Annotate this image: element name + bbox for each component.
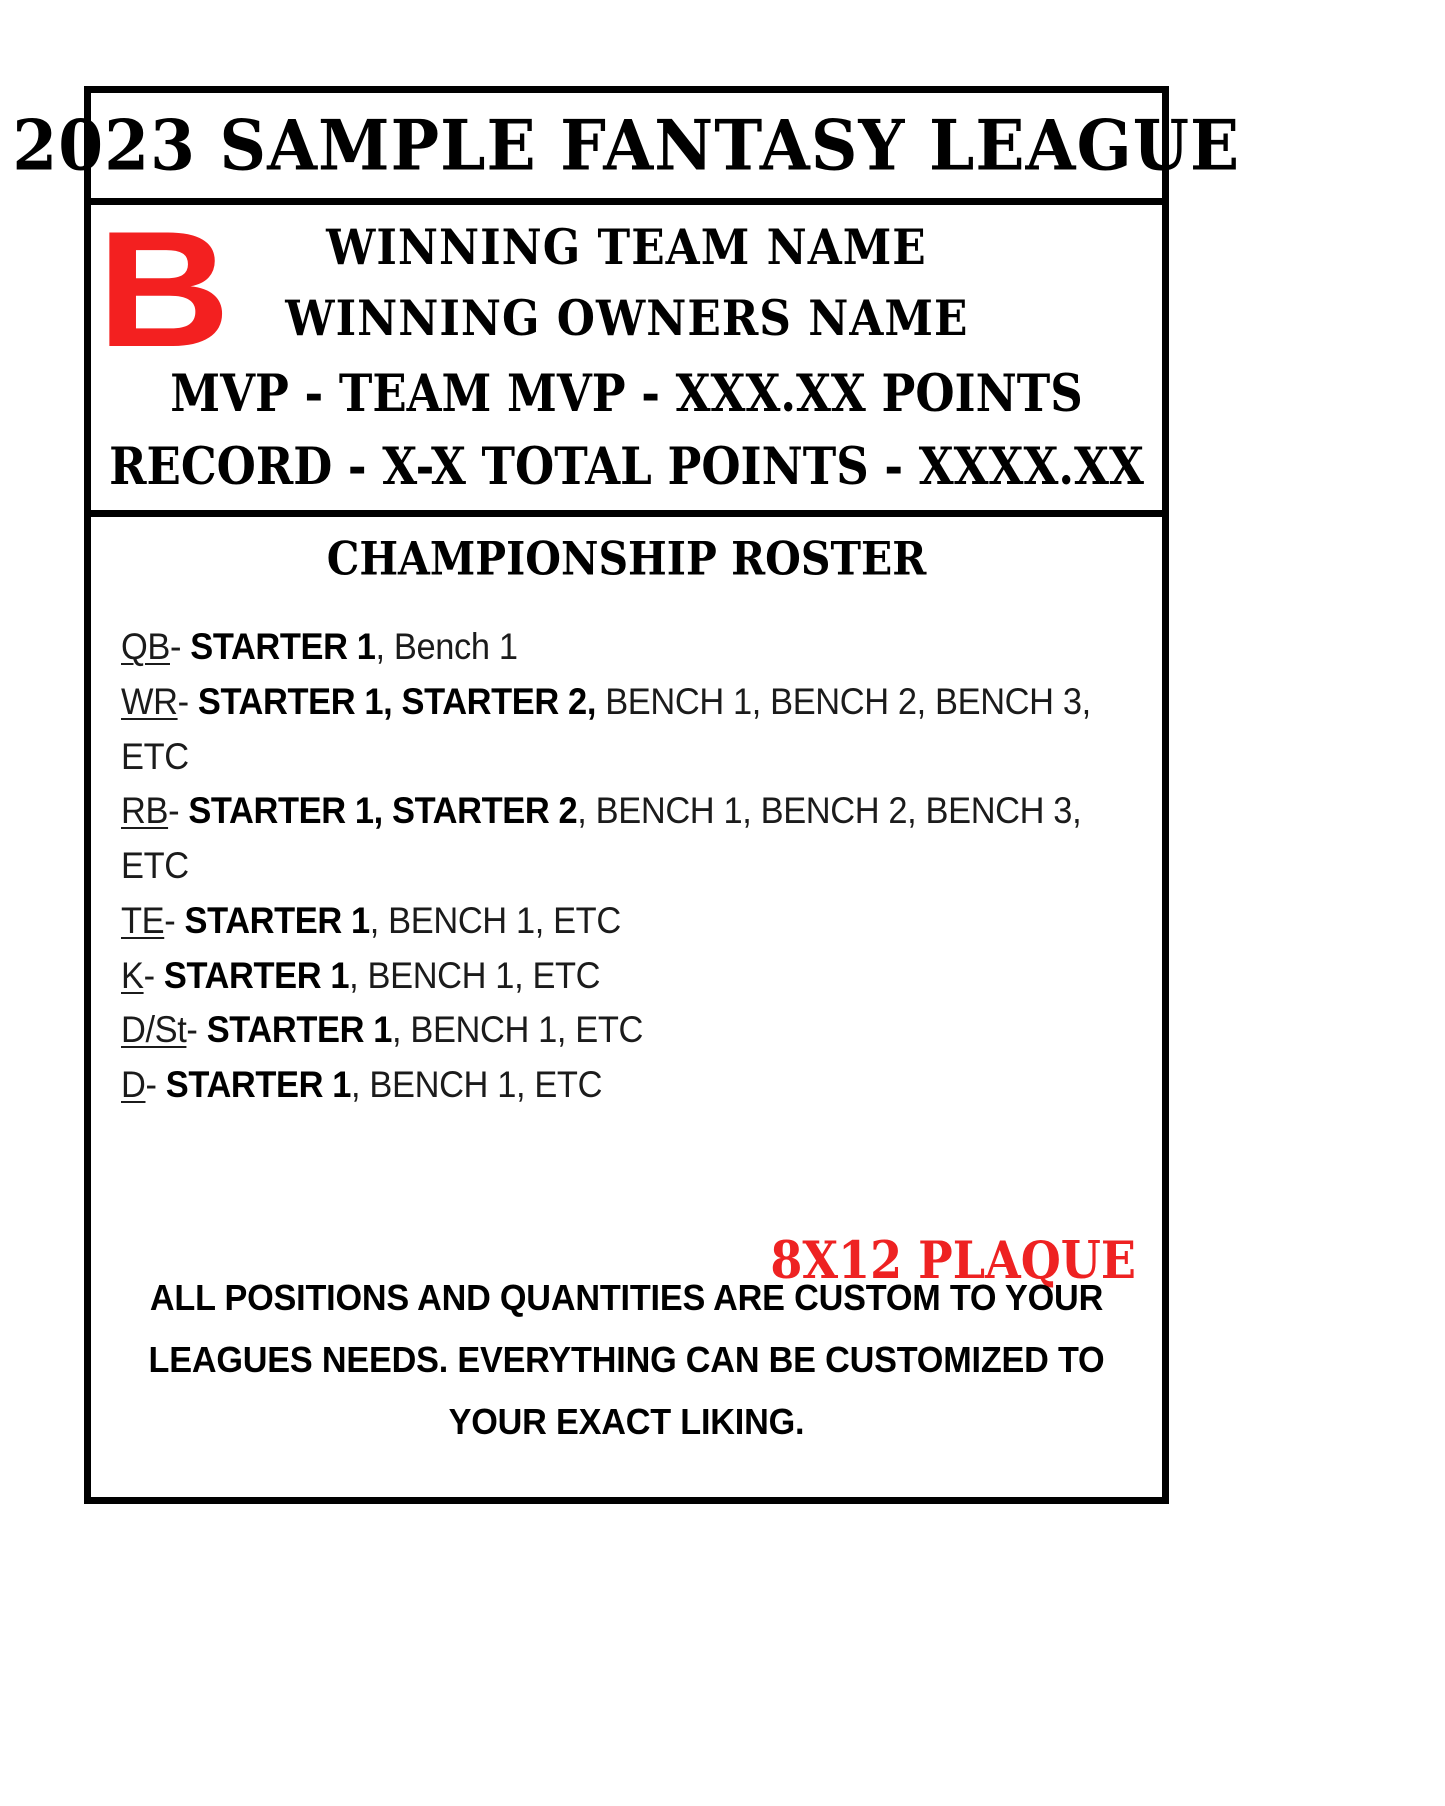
league-title: 2023 SAMPLE FANTASY LEAGUE	[13, 111, 1241, 180]
roster-heading: CHAMPIONSHIP ROSTER	[117, 537, 1136, 583]
roster-position-label: TE	[121, 900, 164, 941]
mvp-line: MVP - TEAM MVP - XXX.XX POINTS	[170, 367, 1082, 418]
roster-position-label: D/St	[121, 1009, 186, 1050]
roster-dash: -	[168, 790, 188, 831]
roster-dash: -	[145, 1064, 165, 1105]
roster-dash: -	[178, 681, 198, 722]
roster-position-label: QB	[121, 626, 170, 667]
winning-owner-name: WINNING OWNERS NAME	[285, 294, 968, 343]
record-line: RECORD - X-X TOTAL POINTS - XXXX.XX	[109, 440, 1144, 491]
roster-dash: -	[186, 1009, 206, 1050]
roster-starters: STARTER 1, STARTER 2,	[198, 681, 596, 722]
roster-line: K- STARTER 1, BENCH 1, ETC	[121, 949, 1136, 1004]
championship-plaque: 2023 SAMPLE FANTASY LEAGUE B WINNING TEA…	[84, 86, 1169, 1504]
championship-roster-band: CHAMPIONSHIP ROSTER QB- STARTER 1, Bench…	[91, 517, 1162, 1497]
roster-starters: STARTER 1	[190, 626, 375, 667]
roster-starters: STARTER 1	[164, 955, 349, 996]
roster-bench: , BENCH 1, ETC	[349, 955, 600, 996]
roster-bench: , BENCH 1, ETC	[351, 1064, 602, 1105]
roster-starters: STARTER 1	[207, 1009, 392, 1050]
roster-starters: STARTER 1	[166, 1064, 351, 1105]
roster-starters: STARTER 1, STARTER 2	[188, 790, 577, 831]
roster-dash: -	[164, 900, 184, 941]
roster-bench: , BENCH 1, ETC	[370, 900, 621, 941]
roster-bench: , BENCH 1, ETC	[392, 1009, 643, 1050]
roster-line: D/St- STARTER 1, BENCH 1, ETC	[121, 1003, 1136, 1058]
roster-line: QB- STARTER 1, Bench 1	[121, 620, 1136, 675]
roster-line: WR- STARTER 1, STARTER 2, BENCH 1, BENCH…	[121, 675, 1136, 785]
roster-line: RB- STARTER 1, STARTER 2, BENCH 1, BENCH…	[121, 784, 1136, 894]
league-title-band: 2023 SAMPLE FANTASY LEAGUE	[91, 93, 1162, 205]
roster-starters: STARTER 1	[185, 900, 370, 941]
roster-position-label: D	[121, 1064, 145, 1105]
winning-team-band: B WINNING TEAM NAME WINNING OWNERS NAME …	[91, 205, 1162, 517]
roster-dash: -	[144, 955, 164, 996]
roster-position-label: WR	[121, 681, 178, 722]
roster-position-label: RB	[121, 790, 168, 831]
roster-dash: -	[170, 626, 190, 667]
team-logo-letter: B	[97, 219, 226, 361]
roster-list: QB- STARTER 1, Bench 1WR- STARTER 1, STA…	[117, 620, 1136, 1113]
roster-line: D- STARTER 1, BENCH 1, ETC	[121, 1058, 1136, 1113]
winning-team-name: WINNING TEAM NAME	[326, 223, 927, 272]
footer-note-text: ALL POSITIONS AND QUANTITIES ARE CUSTOM …	[142, 1267, 1110, 1453]
roster-position-label: K	[121, 955, 144, 996]
roster-bench: , Bench 1	[376, 626, 518, 667]
roster-line: TE- STARTER 1, BENCH 1, ETC	[121, 894, 1136, 949]
footer-note: ALL POSITIONS AND QUANTITIES ARE CUSTOM …	[117, 1267, 1136, 1453]
